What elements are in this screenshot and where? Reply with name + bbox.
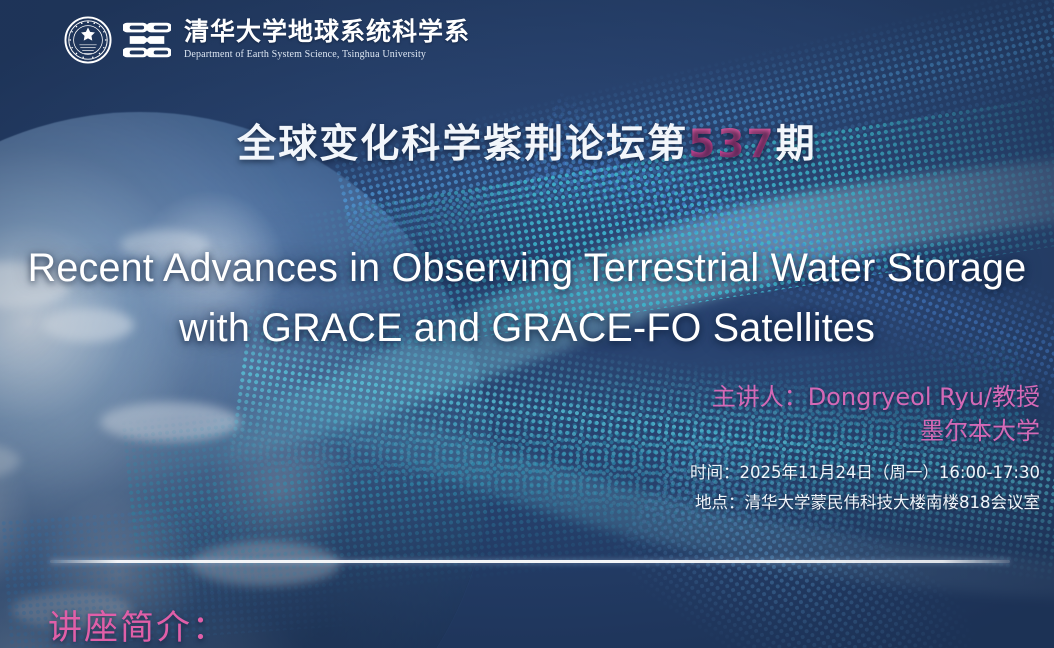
lecture-title-line1: Recent Advances in Observing Terrestrial… xyxy=(28,246,1027,290)
department-logo-block: 清华大学地球系统科学系 Department of Earth System S… xyxy=(64,16,470,64)
headline-prefix: 全球变化科学紫荆论坛第 xyxy=(237,122,688,167)
lecture-title-line2: with GRACE and GRACE-FO Satellites xyxy=(0,298,1054,358)
abstract-section-label: 讲座简介： xyxy=(48,600,228,648)
speaker-name-line: 主讲人：Dongryeol Ryu/教授 xyxy=(712,383,1040,411)
headline-suffix: 期 xyxy=(776,122,817,167)
section-divider xyxy=(50,560,1010,563)
headline-issue-number: 537 xyxy=(688,122,775,167)
speaker-affiliation: 墨尔本大学 xyxy=(712,414,1040,448)
department-name-cn: 清华大学地球系统科学系 xyxy=(184,19,470,45)
dess-logo-mark-icon xyxy=(123,16,171,64)
seminar-poster: 清华大学地球系统科学系 Department of Earth System S… xyxy=(0,0,1054,648)
event-time: 时间：2025年11月24日（周一）16:00-17:30 xyxy=(690,458,1040,488)
event-venue: 地点：清华大学蒙民伟科技大楼南楼818会议室 xyxy=(690,488,1040,518)
department-name-en: Department of Earth System Science, Tsin… xyxy=(184,49,470,61)
event-details-block: 时间：2025年11月24日（周一）16:00-17:30 地点：清华大学蒙民伟… xyxy=(690,458,1040,518)
tsinghua-seal-icon xyxy=(64,16,112,64)
forum-headline: 全球变化科学紫荆论坛第537期 xyxy=(0,113,1054,169)
lecture-title: Recent Advances in Observing Terrestrial… xyxy=(0,238,1054,358)
speaker-block: 主讲人：Dongryeol Ryu/教授 墨尔本大学 xyxy=(712,380,1040,448)
